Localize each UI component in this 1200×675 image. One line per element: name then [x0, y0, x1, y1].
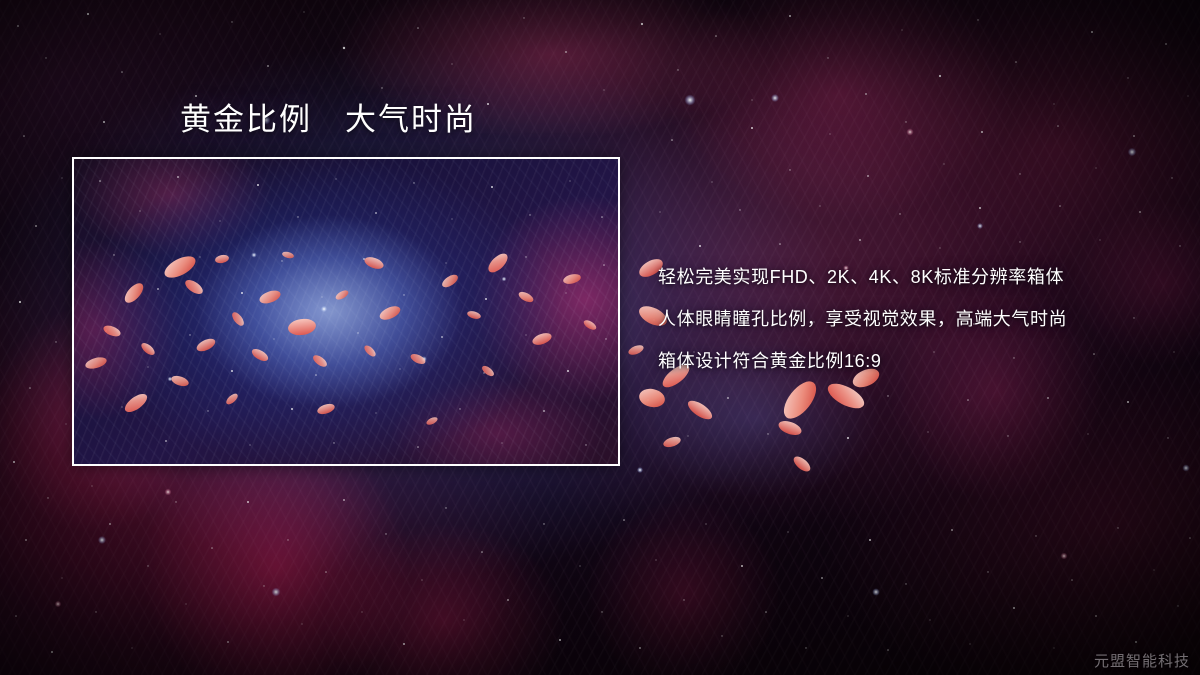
body-line-1: 轻松完美实现FHD、2K、4K、8K标准分辨率箱体 — [658, 256, 1178, 298]
slide-title: 黄金比例 大气时尚 — [180, 100, 477, 140]
body-line-2: 人体眼睛瞳孔比例，享受视觉效果，高端大气时尚 — [658, 298, 1178, 340]
body-line-3: 箱体设计符合黄金比例16:9 — [658, 340, 1178, 382]
photo-starfield-and-petals — [74, 159, 618, 464]
photo-frame — [72, 157, 620, 466]
slide-canvas: 黄金比例 大气时尚 — [0, 0, 1200, 675]
body-text-block: 轻松完美实现FHD、2K、4K、8K标准分辨率箱体 人体眼睛瞳孔比例，享受视觉效… — [658, 256, 1178, 382]
watermark-text: 元盟智能科技 — [1094, 650, 1190, 671]
